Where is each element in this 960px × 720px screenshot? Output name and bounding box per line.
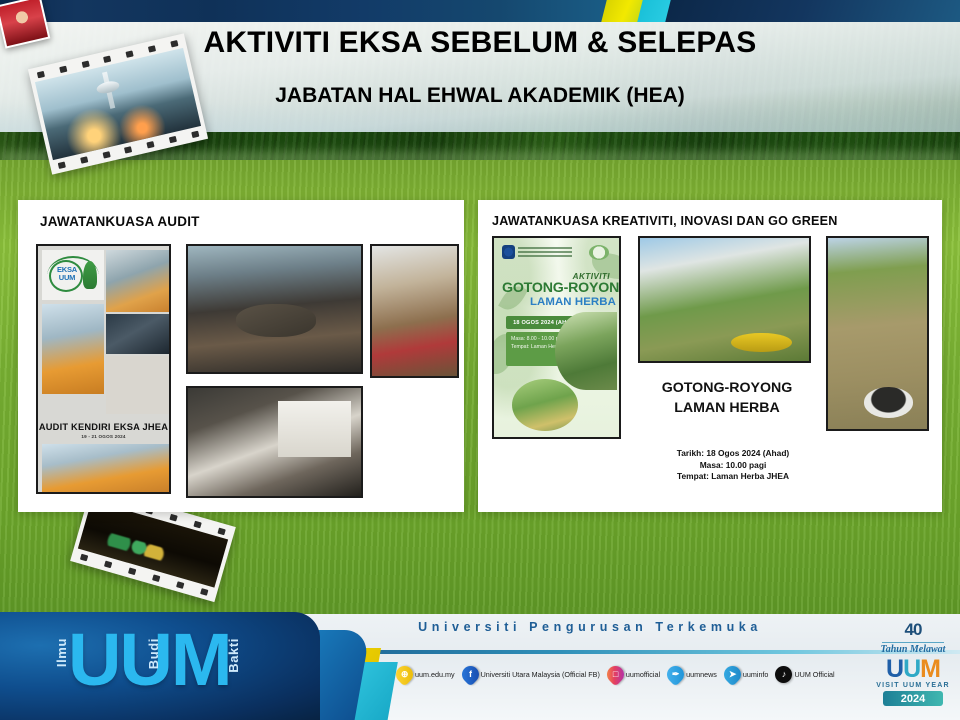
collage-photo-staff [106, 314, 169, 354]
social-label-telegram: uuminfo [743, 670, 769, 679]
pigeon-holes-office-photo [370, 244, 459, 378]
social-label-facebook: Universiti Utara Malaysia (Official FB) [481, 670, 600, 679]
instagram-icon: □ [603, 662, 627, 686]
eksa-logo-text: EKSA UUM [52, 266, 82, 282]
collage-photo-counter-1 [42, 304, 104, 394]
social-link-telegram[interactable]: ➤ uuminfo [724, 666, 769, 683]
collage-caption: AUDIT KENDIRI EKSA JHEA [38, 422, 169, 432]
panel-right-heading: JAWATANKUASA KREATIVITI, INOVASI DAN GO … [492, 214, 838, 228]
collage-photo-blank [106, 356, 169, 414]
social-link-website[interactable]: ⊕ uum.edu.my [396, 666, 455, 683]
twitter-icon: ✒ [664, 662, 688, 686]
footer-tagline: Universiti Pengurusan Terkemuka [330, 620, 850, 634]
social-link-twitter[interactable]: ✒ uumnews [667, 666, 717, 683]
caption-line-1: GOTONG-ROYONG [638, 378, 816, 398]
caption-line-2: LAMAN HERBA [638, 398, 816, 418]
telegram-glyph: ➤ [729, 670, 737, 679]
audit-collage-poster: EKSA UUM AUDIT KENDIRI EKSA JHEA 19 - 21… [36, 244, 171, 494]
visit-uum-year-badge: 40 Tahun Melawat UUM VISIT UUM YEAR 2024 [874, 618, 952, 710]
eksa-uum-logo: EKSA UUM [42, 250, 104, 300]
detail-time: Masa: 10.00 pagi [618, 460, 848, 472]
gotong-royong-poster: AKTIVITI GOTONG-ROYONG LAMAN HERBA 18 OG… [492, 236, 621, 439]
slide-footer: Ilmu UUM Budi Bakti Universiti Pengurusa… [0, 604, 960, 720]
social-label-twitter: uumnews [686, 670, 717, 679]
tiktok-glyph: ♪ [782, 670, 787, 679]
twitter-glyph: ✒ [672, 670, 680, 679]
social-label-website: uum.edu.my [415, 670, 455, 679]
social-label-instagram: uumofficial [626, 670, 660, 679]
poster-logo-row [502, 245, 611, 261]
header-bar [0, 0, 960, 22]
whiteboard-briefing-photo [186, 386, 363, 498]
badge-year: 2024 [883, 691, 943, 706]
collage-photo-counter-2 [42, 444, 169, 492]
social-link-facebook[interactable]: f Universiti Utara Malaysia (Official FB… [462, 666, 600, 683]
telegram-icon: ➤ [720, 662, 744, 686]
social-links-row: ⊕ uum.edu.my f Universiti Utara Malaysia… [396, 666, 835, 683]
social-link-instagram[interactable]: □ uumofficial [607, 666, 660, 683]
herb-garden-tyres-photo [638, 236, 811, 363]
poster-org-name [518, 247, 572, 257]
globe-glyph: ⊕ [401, 670, 409, 679]
swoosh-navy [665, 0, 960, 22]
social-link-tiktok[interactable]: ♪ UUM Official [775, 666, 834, 683]
instagram-glyph: □ [613, 670, 618, 679]
uum-label: UUM [52, 274, 82, 282]
panel-kreativiti-inovasi-go-green: JAWATANKUASA KREATIVITI, INOVASI DAN GO … [478, 200, 942, 512]
herb-garden-plots-photo [826, 236, 929, 431]
uum-logo: Ilmu UUM Budi Bakti [40, 624, 290, 700]
gotong-royong-caption: GOTONG-ROYONG LAMAN HERBA [638, 378, 816, 418]
badge-script-text: Tahun Melawat [874, 644, 952, 655]
collage-date: 19 - 21 OGOS 2024 [38, 434, 169, 439]
badge-rule [882, 642, 944, 643]
globe-icon: ⊕ [392, 662, 416, 686]
motto-budi: Budi [146, 638, 161, 669]
detail-date: Tarikh: 18 Ogos 2024 (Ahad) [618, 448, 848, 460]
meeting-room-photo [186, 244, 363, 374]
badge-uum-wordmark: UUM [874, 656, 952, 682]
tiktok-icon: ♪ [775, 666, 792, 683]
poster-photo-garden-2 [512, 379, 578, 431]
badge-subtitle: VISIT UUM YEAR [874, 682, 952, 689]
social-label-tiktok: UUM Official [794, 670, 834, 679]
detail-venue: Tempat: Laman Herba JHEA [618, 471, 848, 483]
poster-photo-garden-1 [555, 312, 617, 390]
poster-subtitle: LAMAN HERBA [530, 296, 616, 308]
facebook-icon: f [458, 662, 482, 686]
eksa-logo-mark: EKSA UUM [47, 256, 99, 296]
eksa-leaf-icon [83, 261, 97, 289]
polaroid-portrait-image [0, 0, 48, 46]
tower-silhouette-icon [102, 72, 115, 109]
eksa-badge-icon [589, 245, 609, 260]
badge-anniversary-number: 40 [874, 620, 952, 640]
motto-bakti: Bakti [226, 638, 241, 673]
gotong-royong-details: Tarikh: 18 Ogos 2024 (Ahad) Masa: 10.00 … [618, 448, 848, 483]
facebook-glyph: f [469, 670, 472, 679]
uum-crest-icon [502, 245, 515, 259]
presentation-slide: AKTIVITI EKSA SEBELUM & SELEPAS JABATAN … [0, 0, 960, 720]
panel-left-heading: JAWATANKUASA AUDIT [40, 214, 200, 229]
motto-ilmu: Ilmu [54, 638, 69, 667]
panel-jawatankuasa-audit: JAWATANKUASA AUDIT EKSA UUM AUDIT KENDIR… [18, 200, 464, 512]
collage-photo-office-1 [106, 250, 169, 312]
poster-title: GOTONG-ROYONG [502, 280, 613, 296]
